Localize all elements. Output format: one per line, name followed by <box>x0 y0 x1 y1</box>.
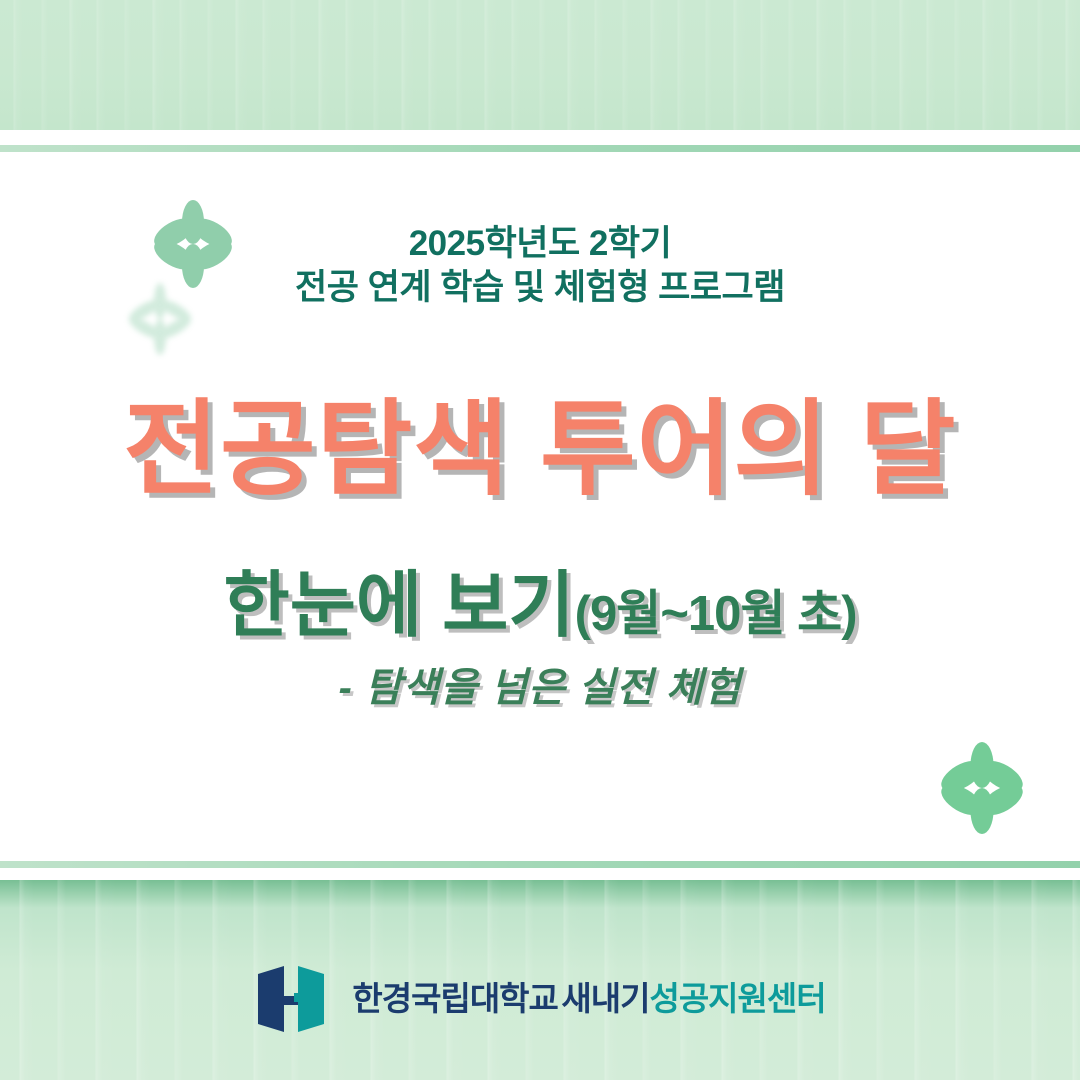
subtitle-date-range: (9월~10월 초) <box>575 587 857 641</box>
flower-icon <box>934 740 1030 836</box>
logo-university-name: 한경국립대학교 <box>352 980 558 1017</box>
logo-center-name: 새내기성공지원센터 <box>561 980 825 1017</box>
program-subtitle: 2025학년도 2학기 전공 연계 학습 및 체험형 프로그램 <box>0 222 1080 310</box>
tagline: - 탐색을 넘은 실전 체험 <box>0 668 1080 708</box>
poster-canvas: 2025학년도 2학기 전공 연계 학습 및 체험형 프로그램 전공탐색 투어의… <box>0 0 1080 1080</box>
subtitle-main: 한눈에 보기 <box>223 566 574 646</box>
paper-texture-overlay <box>0 0 1080 130</box>
logo-center-name-teal: 성공지원센터 <box>649 980 825 1017</box>
university-logo: 한경국립대학교 새내기성공지원센터 <box>0 962 1080 1036</box>
bottom-divider-rule <box>0 861 1080 868</box>
logo-wordmark: 한경국립대학교 새내기성공지원센터 <box>352 982 825 1017</box>
program-subtitle-line2: 전공 연계 학습 및 체험형 프로그램 <box>0 266 1080 310</box>
program-subtitle-line1: 2025학년도 2학기 <box>409 224 672 263</box>
top-decorative-band <box>0 0 1080 130</box>
hankyong-h-mark-icon <box>254 962 338 1036</box>
page-title: 전공탐색 투어의 달 <box>0 398 1080 502</box>
logo-center-name-navy: 새내기 <box>561 980 649 1017</box>
subtitle-line: 한눈에 보기(9월~10월 초) <box>0 570 1080 642</box>
top-divider-rule <box>0 145 1080 152</box>
